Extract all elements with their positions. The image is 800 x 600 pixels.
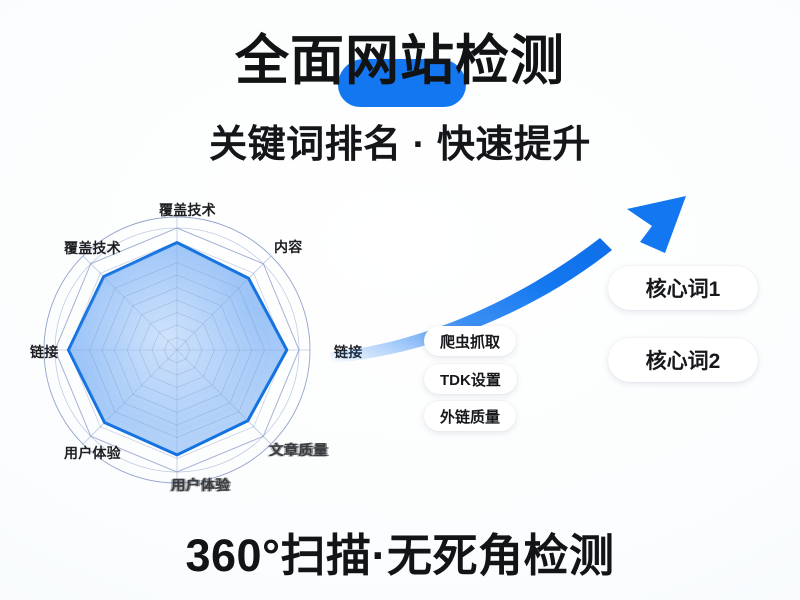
radar-chart: 覆盖技术 内容 链接 文章质量 用户体验 用户体验 链接 覆盖技术 — [22, 190, 442, 510]
arrow-head — [627, 196, 686, 253]
poster-canvas: 全面网站检测 关键词排名 · 快速提升 — [0, 0, 800, 600]
radar-axis-label-right: 链接 — [334, 342, 362, 362]
radar-axis-label-bottom-left: 用户体验 — [64, 443, 121, 463]
page-subtitle: 关键词排名 · 快速提升 — [0, 113, 800, 168]
radar-axis-label-bottom: 用户体验 — [171, 475, 230, 495]
radar-axis-label-top-right: 内容 — [274, 237, 302, 257]
radar-axis-label-top-left: 覆盖技术 — [64, 238, 121, 258]
keyword-pill[interactable]: 核心词1 — [608, 266, 758, 310]
page-title: 全面网站检测 — [235, 32, 565, 90]
title-part-highlight: 网站 — [345, 31, 455, 91]
title-part-before: 全面 — [235, 31, 345, 91]
footer-tagline: 360°扫描·无死角检测 — [0, 519, 800, 584]
title-part-after: 检测 — [455, 31, 565, 91]
tag-pill[interactable]: TDK设置 — [424, 364, 517, 394]
tag-pill[interactable]: 外链质量 — [424, 401, 516, 431]
radar-axis-label-left: 链接 — [30, 342, 58, 362]
keyword-pill[interactable]: 核心词2 — [608, 338, 758, 382]
headline-block: 全面网站检测 — [0, 32, 800, 90]
tag-pill[interactable]: 爬虫抓取 — [424, 326, 516, 356]
radar-axis-label-top: 覆盖技术 — [159, 200, 216, 220]
radar-axis-label-bottom-right: 文章质量 — [269, 440, 328, 460]
